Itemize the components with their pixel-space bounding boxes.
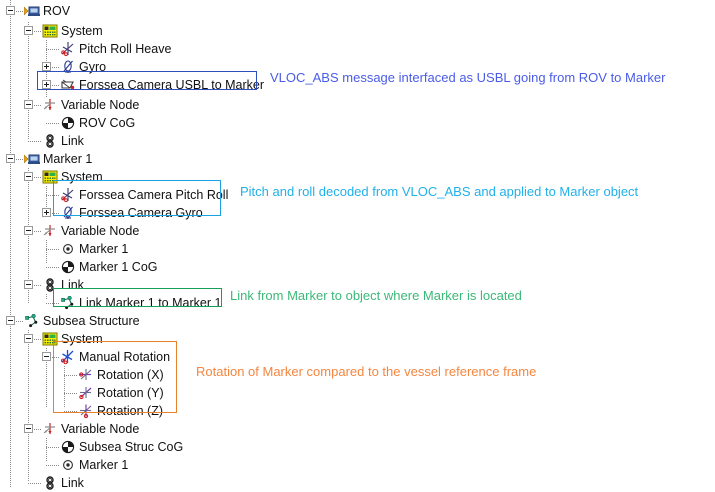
tree-guide-line: [28, 141, 42, 142]
tree-guide-line: [46, 123, 60, 124]
annotation-text: Rotation of Marker compared to the vesse…: [196, 364, 536, 380]
tree-item-label: Pitch Roll Heave: [76, 40, 171, 58]
annotation-text: Link from Marker to object where Marker …: [230, 288, 522, 304]
tree-item[interactable]: Link: [42, 474, 84, 492]
computer-icon: [24, 151, 40, 167]
tree-guide-line: [28, 22, 29, 140]
chain-link-icon: [42, 133, 58, 149]
collapse-button[interactable]: [6, 6, 15, 15]
tree-item-label: ROV CoG: [76, 114, 135, 132]
tree-item-label: Variable Node: [58, 420, 139, 438]
tree-item[interactable]: Link: [42, 132, 84, 150]
tree-item[interactable]: System: [42, 22, 103, 40]
tree-item-label: System: [58, 22, 103, 40]
axis-sensor-icon: [60, 41, 76, 57]
camera-pair-highlight: [53, 180, 221, 216]
tree-guide-line: [46, 465, 60, 466]
collapse-button[interactable]: [6, 316, 15, 325]
cog-sphere-icon: [60, 115, 76, 131]
object-tree[interactable]: ROVSystemPitch Roll HeaveGyroForssea Cam…: [0, 0, 715, 488]
expand-button[interactable]: [42, 208, 51, 217]
tree-item[interactable]: Variable Node: [42, 96, 139, 114]
collapse-button[interactable]: [24, 172, 33, 181]
tree-item-label: ROV: [40, 2, 70, 20]
tree-guide-line: [46, 447, 60, 448]
tree-guide-line: [46, 294, 47, 300]
tree-item[interactable]: Marker 1: [24, 150, 92, 168]
tree-guide-line: [46, 186, 47, 210]
tree-guide-line: [46, 240, 47, 264]
tree-item-label: Marker 1: [76, 240, 128, 258]
tree-guide-line: [46, 438, 47, 462]
cog-sphere-icon: [60, 259, 76, 275]
tree-item[interactable]: Marker 1: [60, 456, 128, 474]
tree-item[interactable]: Subsea Structure: [24, 312, 140, 330]
tree-guide-line: [28, 330, 29, 482]
tree-item-label: Link: [58, 474, 84, 492]
cog-sphere-icon: [60, 439, 76, 455]
tree-item-label: Marker 1 CoG: [76, 258, 158, 276]
tree-item[interactable]: ROV: [24, 2, 70, 20]
collapse-button[interactable]: [24, 424, 33, 433]
collapse-button[interactable]: [24, 280, 33, 289]
collapse-button[interactable]: [24, 334, 33, 343]
tree-item-label: Variable Node: [58, 96, 139, 114]
annotation-text: Pitch and roll decoded from VLOC_ABS and…: [240, 184, 638, 200]
collapse-button[interactable]: [6, 154, 15, 163]
tree-item-label: Marker 1: [76, 456, 128, 474]
link-marker-highlight: [53, 288, 222, 307]
tree-item[interactable]: Marker 1: [60, 240, 128, 258]
tree-item-label: Marker 1: [40, 150, 92, 168]
collapse-button[interactable]: [42, 352, 51, 361]
system-grid-icon: [42, 23, 58, 39]
collapse-button[interactable]: [24, 26, 33, 35]
tree-guide-line: [46, 49, 60, 50]
tree-item[interactable]: Variable Node: [42, 222, 139, 240]
usbl-highlight: [37, 71, 257, 90]
collapse-button[interactable]: [24, 226, 33, 235]
tree-item-label: Link: [58, 132, 84, 150]
annotation-text: VLOC_ABS message interfaced as USBL goin…: [270, 70, 665, 86]
marker-target-icon: [60, 457, 76, 473]
chain-link-icon: [42, 475, 58, 491]
tree-item[interactable]: Marker 1 CoG: [60, 258, 158, 276]
tree-item[interactable]: ROV CoG: [60, 114, 135, 132]
tree-item-label: Subsea Struc CoG: [76, 438, 183, 456]
tree-item-label: Subsea Structure: [40, 312, 140, 330]
tree-item-label: Variable Node: [58, 222, 139, 240]
manual-rotation-highlight: [53, 341, 177, 413]
tree-guide-line: [28, 483, 42, 484]
variable-node-icon: [42, 223, 58, 239]
collapse-button[interactable]: [24, 100, 33, 109]
variable-node-icon: [42, 421, 58, 437]
tree-item[interactable]: Pitch Roll Heave: [60, 40, 171, 58]
variable-node-icon: [42, 97, 58, 113]
tree-item[interactable]: Variable Node: [42, 420, 139, 438]
tree-guide-line: [10, 0, 11, 488]
tree-item[interactable]: Subsea Struc CoG: [60, 438, 183, 456]
link-node-icon: [24, 313, 40, 329]
tree-guide-line: [46, 267, 60, 268]
tree-guide-line: [46, 249, 60, 250]
expand-button[interactable]: [42, 62, 51, 71]
marker-target-icon: [60, 241, 76, 257]
computer-icon: [24, 3, 40, 19]
